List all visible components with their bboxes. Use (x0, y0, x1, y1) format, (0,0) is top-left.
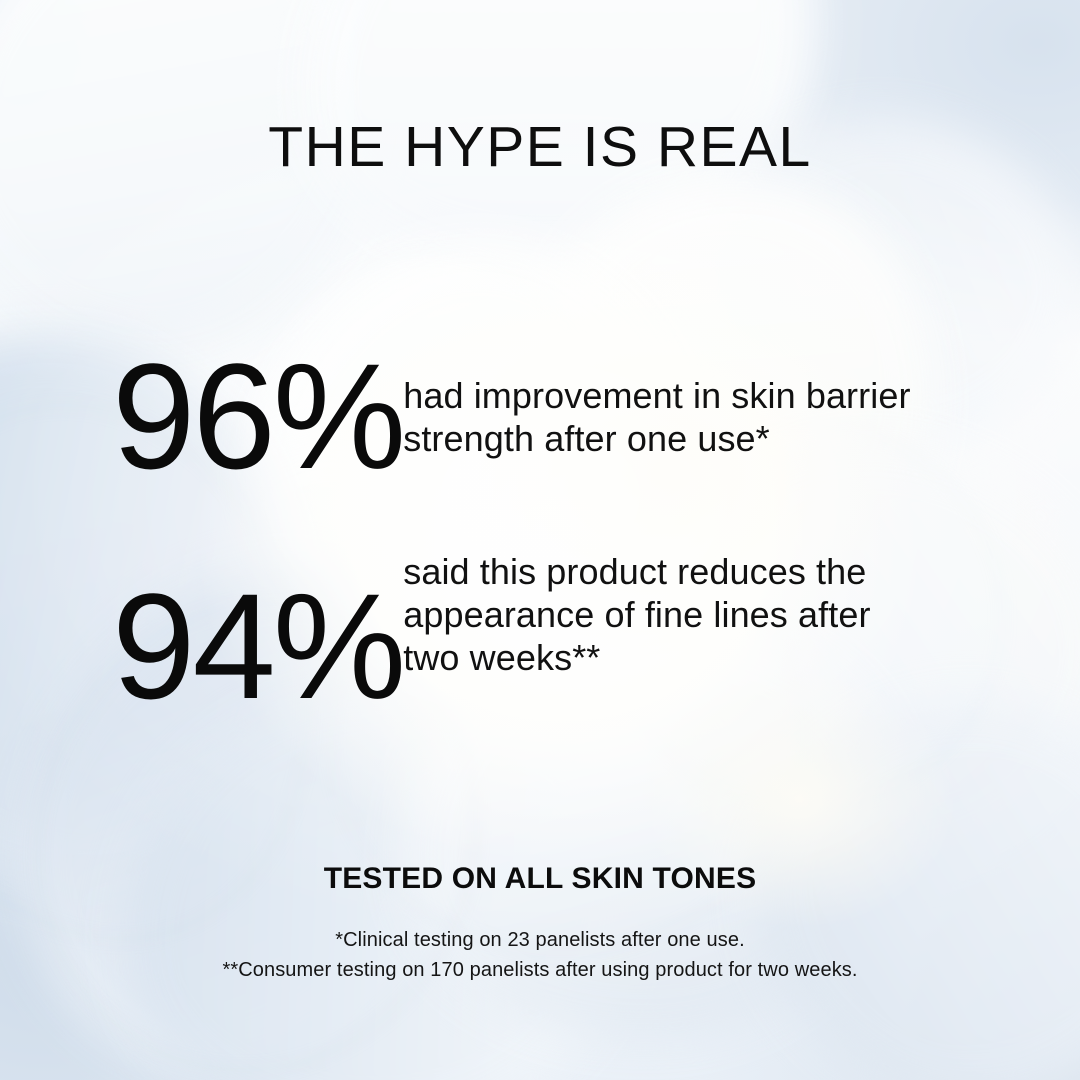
stat-value-2: 94% (112, 536, 403, 705)
stat-description-2-line-1: said this product reduces the (403, 550, 972, 593)
stat-description-1-line-2: strength after one use* (403, 417, 972, 460)
stat-row-1: 96% had improvement in skin barrier stre… (112, 352, 972, 475)
stat-description-1: had improvement in skin barrier strength… (403, 352, 972, 460)
stat-description-2-line-2: appearance of fine lines after (403, 593, 972, 636)
footnote-double-asterisk: **Consumer testing on 170 panelists afte… (0, 955, 1080, 985)
claim-tested-on-all-skin-tones: TESTED ON ALL SKIN TONES (0, 862, 1080, 896)
promo-card: THE HYPE IS REAL 96% had improvement in … (0, 0, 1080, 1080)
stat-row-2: 94% said this product reduces the appear… (112, 536, 972, 705)
footnotes: *Clinical testing on 23 panelists after … (0, 925, 1080, 986)
stat-value-1: 96% (112, 352, 403, 475)
footnote-single-asterisk: *Clinical testing on 23 panelists after … (0, 925, 1080, 955)
page-title: THE HYPE IS REAL (0, 118, 1080, 178)
content-layer: THE HYPE IS REAL 96% had improvement in … (0, 0, 1080, 1080)
stat-description-2: said this product reduces the appearance… (403, 536, 972, 680)
stat-description-1-line-1: had improvement in skin barrier (403, 374, 972, 417)
stat-description-2-line-3: two weeks** (403, 636, 972, 679)
